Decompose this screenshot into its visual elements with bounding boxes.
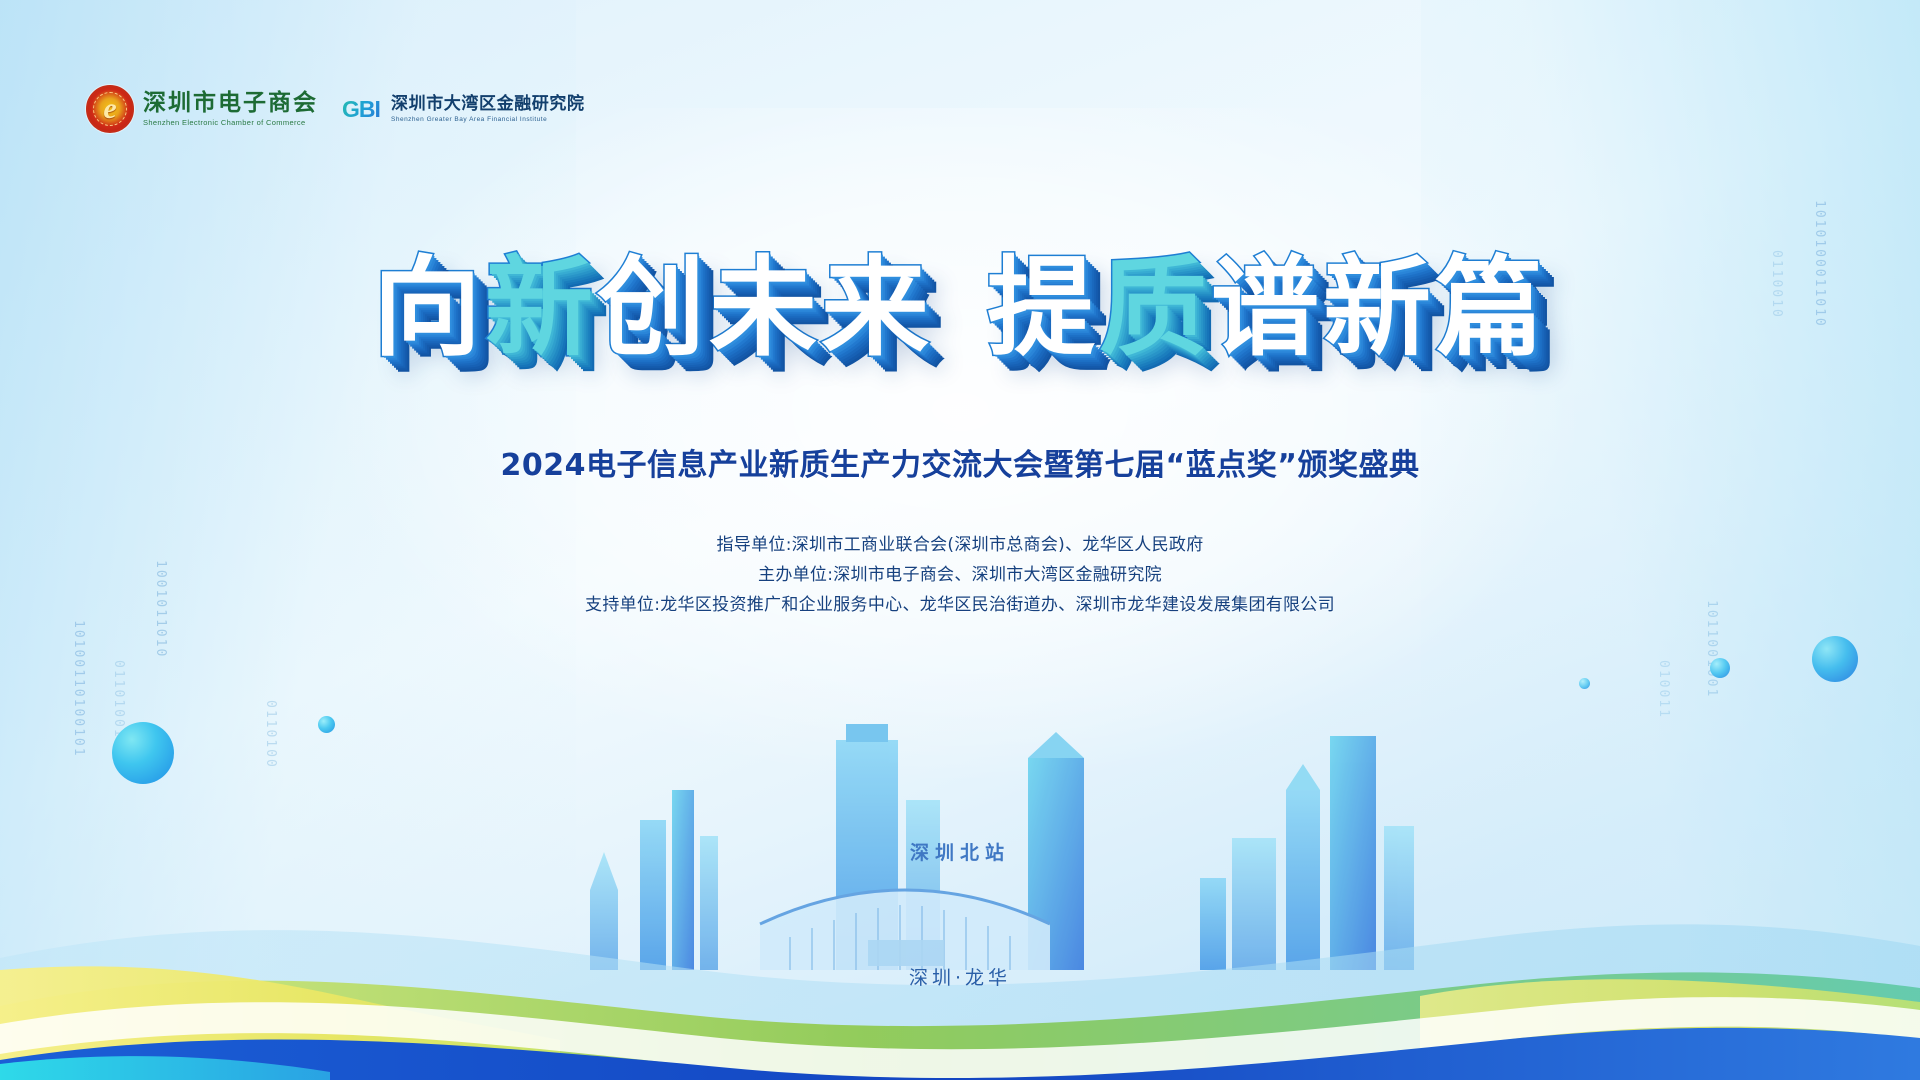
logo-name-cn: 深圳市电子商会 <box>143 91 318 115</box>
title-char-group: 向 <box>373 246 485 371</box>
binary-code-column: 1010100011010 <box>1811 200 1828 328</box>
title-char-group: 提 <box>987 246 1099 371</box>
binary-code-column: 0110010 <box>1768 250 1785 319</box>
logo-bar: e 深圳市电子商会 Shenzhen Electronic Chamber of… <box>86 85 585 133</box>
organizer-line-host: 主办单位:深圳市电子商会、深圳市大湾区金融研究院 <box>0 560 1920 590</box>
gbi-mark-icon: GBI <box>340 92 382 126</box>
seal-glyph: e <box>88 87 132 131</box>
logo-name-en: Shenzhen Electronic Chamber of Commerce <box>143 118 318 127</box>
title-char-group: 创未来 <box>597 246 933 371</box>
title-char-group: 谱新篇 <box>1211 246 1547 371</box>
logo-gba-financial-institute: GBI 深圳市大湾区金融研究院 Shenzhen Greater Bay Are… <box>340 92 585 126</box>
main-title: 向新创未来提质谱新篇 <box>0 255 1920 363</box>
event-subtitle: 2024电子信息产业新质生产力交流大会暨第七届“蓝点奖”颁奖盛典 <box>0 440 1920 484</box>
organizer-line-guidance: 指导单位:深圳市工商业联合会(深圳市总商会)、龙华区人民政府 <box>0 530 1920 560</box>
logo-shenzhen-electronic-chamber: e 深圳市电子商会 Shenzhen Electronic Chamber of… <box>86 85 318 133</box>
organizer-block: 指导单位:深圳市工商业联合会(深圳市总商会)、龙华区人民政府 主办单位:深圳市电… <box>0 530 1920 620</box>
logo-name-en: Shenzhen Greater Bay Area Financial Inst… <box>391 116 585 123</box>
title-char-highlight: 质 <box>1099 246 1211 371</box>
main-title-text: 向新创未来提质谱新篇 <box>373 255 1547 363</box>
skyline-towers <box>590 724 1414 970</box>
title-char-highlight: 新 <box>485 246 597 371</box>
chamber-seal-icon: e <box>86 85 134 133</box>
organizer-line-support: 支持单位:龙华区投资推广和企业服务中心、龙华区民治街道办、深圳市龙华建设发展集团… <box>0 590 1920 620</box>
skyline-illustration <box>0 640 1920 1080</box>
poster-canvas: 10100110100101 011010010 1001011010 0110… <box>0 0 1920 1080</box>
logo-name-cn: 深圳市大湾区金融研究院 <box>391 95 585 114</box>
